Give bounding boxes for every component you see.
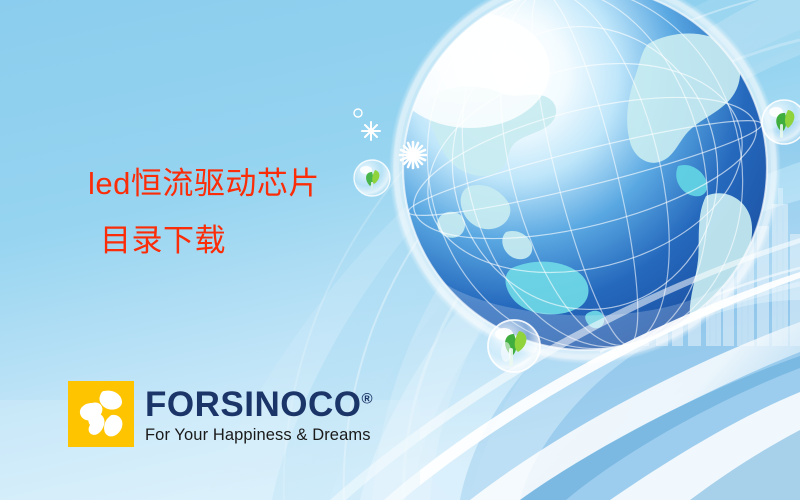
pinwheel-icon xyxy=(68,381,134,447)
forsinoco-logo[interactable]: FORSINOCO® For Your Happiness & Dreams xyxy=(68,381,373,447)
logo-wordmark-text: FORSINOCO xyxy=(145,385,361,424)
headline-text: led恒流驱动芯片 目录下载 xyxy=(88,163,320,263)
headline-line-1: led恒流驱动芯片 xyxy=(88,163,320,206)
logo-tagline: For Your Happiness & Dreams xyxy=(145,426,373,444)
sparkle-star-small xyxy=(362,122,380,140)
headline-line-2: 目录下载 xyxy=(100,220,320,263)
logo-text-block: FORSINOCO® For Your Happiness & Dreams xyxy=(145,381,373,444)
bubble-green-sprout-top xyxy=(354,160,390,196)
logo-wordmark: FORSINOCO® xyxy=(145,387,373,422)
led-driver-catalog-banner: led恒流驱动芯片 目录下载 FORSINOCO® For Your Happi… xyxy=(0,0,800,500)
bubble-green-sprout-right xyxy=(762,100,800,144)
sparkle-star-large xyxy=(400,142,426,168)
registered-trademark-symbol: ® xyxy=(361,390,372,407)
forsinoco-pinwheel-mark xyxy=(68,381,134,447)
